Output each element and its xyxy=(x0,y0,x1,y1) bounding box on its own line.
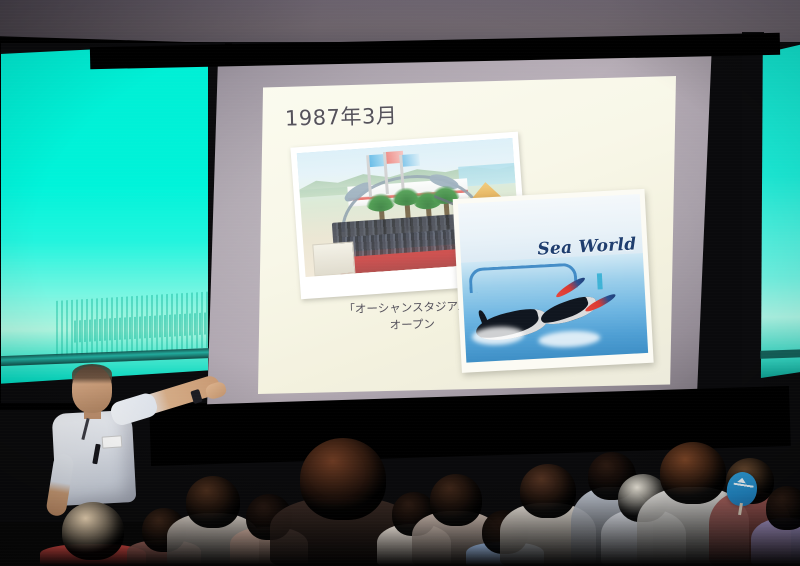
audience-head xyxy=(660,442,726,504)
audience-head xyxy=(62,502,124,560)
pool-post xyxy=(597,273,603,289)
splash-2 xyxy=(538,329,601,348)
right-screen-post xyxy=(742,32,764,388)
left-side-screen xyxy=(0,44,208,384)
audience-head xyxy=(520,464,576,518)
audience-head xyxy=(300,438,386,520)
slide-title: 1987年3月 xyxy=(285,100,398,133)
photo-sea-world: Sea World xyxy=(453,189,654,373)
slide: 1987年3月 xyxy=(258,76,676,394)
orca-show-image xyxy=(461,253,648,363)
screenshot-root: 1987年3月 xyxy=(0,0,800,566)
audience-head xyxy=(430,474,482,526)
right-screen-lower-band xyxy=(760,349,800,359)
center-projection-screen: 1987年3月 xyxy=(196,44,716,430)
right-side-screen xyxy=(760,40,800,378)
fan-text xyxy=(733,483,753,489)
audience-rows xyxy=(0,416,800,566)
presenter-hair xyxy=(72,364,112,384)
audience-head xyxy=(766,486,800,530)
audience-head xyxy=(186,476,240,528)
orca-2 xyxy=(539,292,600,330)
